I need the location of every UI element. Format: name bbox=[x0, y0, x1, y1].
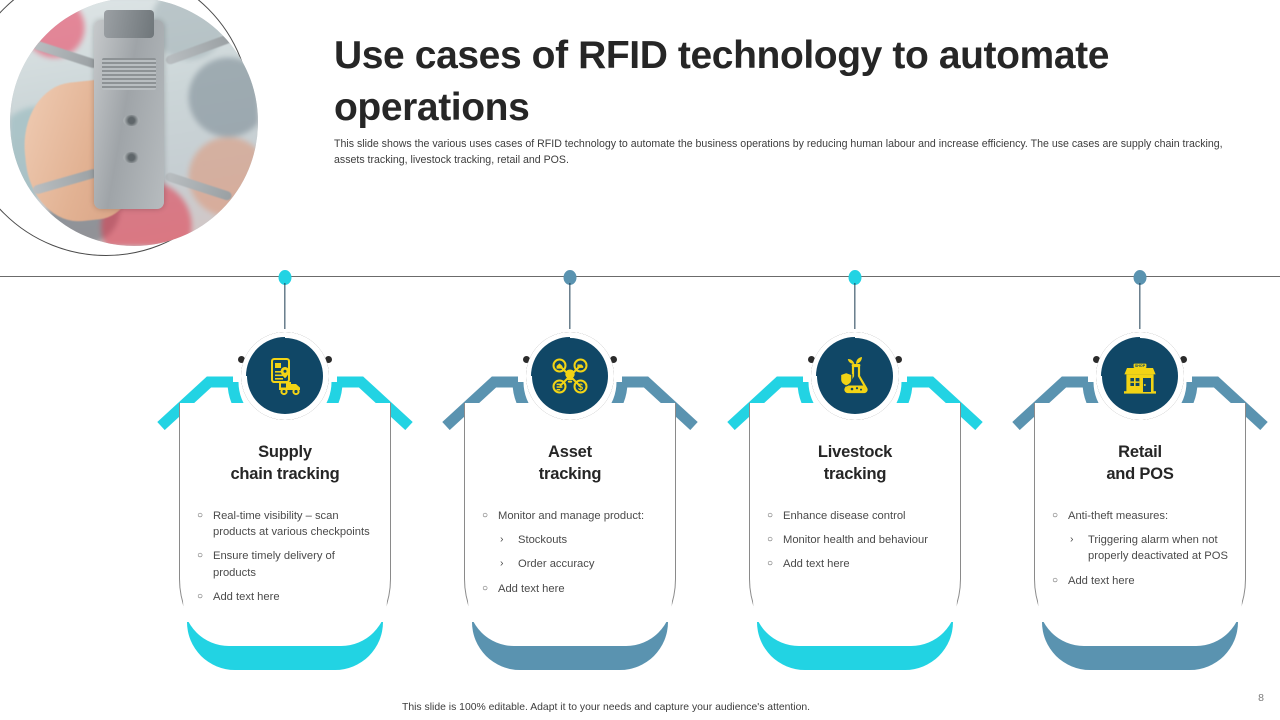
bullet-item: ○ Add text here bbox=[1052, 573, 1234, 589]
timeline-stem-2 bbox=[569, 283, 570, 329]
card-title-line1: Livestock bbox=[818, 443, 892, 461]
page-subtitle: This slide shows the various uses cases … bbox=[334, 136, 1229, 169]
bullet-text: Add text here bbox=[498, 581, 664, 597]
bullet-text: Triggering alarm when not properly deact… bbox=[1088, 532, 1234, 564]
bullet-text: Stockouts bbox=[518, 532, 664, 548]
card-title-line2: tracking bbox=[539, 465, 602, 483]
bullet-text: Add text here bbox=[1068, 573, 1234, 589]
timeline-stem-4 bbox=[1139, 283, 1140, 329]
bullet-text: Add text here bbox=[783, 556, 949, 572]
shop-storefront-icon: SHOP bbox=[1102, 338, 1178, 414]
card-title: Asset tracking bbox=[464, 442, 676, 486]
bullet-item: ○ Add text here bbox=[482, 581, 664, 597]
asset-network-icon: $ bbox=[532, 338, 608, 414]
card-title-line2: chain tracking bbox=[230, 465, 339, 483]
bullet-item: ○ Monitor and manage product: bbox=[482, 508, 664, 524]
hero-photo bbox=[10, 0, 258, 246]
bullet-marker: ○ bbox=[197, 508, 213, 540]
card-bottom-crescent bbox=[757, 622, 953, 670]
bullet-item: ○ Enhance disease control bbox=[767, 508, 949, 524]
timeline-stem-1 bbox=[284, 283, 285, 329]
card-title: Retail and POS bbox=[1034, 442, 1246, 486]
card-bullet-list: ○ Enhance disease control ○ Monitor heal… bbox=[767, 508, 949, 581]
card-badge bbox=[239, 330, 331, 422]
card-badge: $ bbox=[524, 330, 616, 422]
bullet-item: ○ Add text here bbox=[197, 589, 379, 605]
bullet-marker: ○ bbox=[197, 589, 213, 605]
bullet-marker: ○ bbox=[482, 508, 498, 524]
card-title: Supply chain tracking bbox=[179, 442, 391, 486]
bullet-text: Anti-theft measures: bbox=[1068, 508, 1234, 524]
bullet-text: Ensure timely delivery of products bbox=[213, 548, 379, 580]
bullet-marker: ○ bbox=[482, 581, 498, 597]
bullet-text: Enhance disease control bbox=[783, 508, 949, 524]
bullet-marker: › bbox=[500, 556, 518, 572]
bullet-item: ○ Real-time visibility – scan products a… bbox=[197, 508, 379, 540]
card-bottom-crescent bbox=[187, 622, 383, 670]
bullet-item: › Stockouts bbox=[482, 532, 664, 548]
bullet-marker: ○ bbox=[1052, 508, 1068, 524]
card-badge: SHOP bbox=[1094, 330, 1186, 422]
bullet-item: ○ Monitor health and behaviour bbox=[767, 532, 949, 548]
card-title-line1: Asset bbox=[548, 443, 592, 461]
bullet-text: Order accuracy bbox=[518, 556, 664, 572]
bullet-marker: ○ bbox=[767, 532, 783, 548]
bullet-text: Real-time visibility – scan products at … bbox=[213, 508, 379, 540]
bullet-marker: ○ bbox=[767, 508, 783, 524]
timeline-stem-3 bbox=[854, 283, 855, 329]
card-title-line2: and POS bbox=[1106, 465, 1173, 483]
bullet-text: Monitor health and behaviour bbox=[783, 532, 949, 548]
card-badge bbox=[809, 330, 901, 422]
flask-shield-icon bbox=[817, 338, 893, 414]
bullet-item: › Triggering alarm when not properly dea… bbox=[1052, 532, 1234, 564]
bullet-marker: ○ bbox=[197, 548, 213, 580]
bullet-item: ○ Anti-theft measures: bbox=[1052, 508, 1234, 524]
card-bullet-list: ○ Monitor and manage product: › Stockout… bbox=[482, 508, 664, 605]
footer-note: This slide is 100% editable. Adapt it to… bbox=[402, 702, 810, 713]
bullet-item: ○ Ensure timely delivery of products bbox=[197, 548, 379, 580]
card-bullet-list: ○ Real-time visibility – scan products a… bbox=[197, 508, 379, 613]
svg-text:$: $ bbox=[578, 382, 583, 392]
hero-image-block bbox=[0, 0, 310, 292]
card-title-line1: Retail bbox=[1118, 443, 1162, 461]
bullet-text: Monitor and manage product: bbox=[498, 508, 664, 524]
bullet-item: › Order accuracy bbox=[482, 556, 664, 572]
card-bullet-list: ○ Anti-theft measures: › Triggering alar… bbox=[1052, 508, 1234, 597]
bullet-marker: › bbox=[1070, 532, 1088, 564]
card-title-line1: Supply bbox=[258, 443, 312, 461]
card-bottom-crescent bbox=[472, 622, 668, 670]
bullet-marker: ○ bbox=[767, 556, 783, 572]
delivery-truck-tracking-icon bbox=[247, 338, 323, 414]
svg-text:SHOP: SHOP bbox=[1135, 364, 1146, 368]
card-title-line2: tracking bbox=[824, 465, 887, 483]
bullet-marker: › bbox=[500, 532, 518, 548]
bullet-marker: ○ bbox=[1052, 573, 1068, 589]
bullet-text: Add text here bbox=[213, 589, 379, 605]
page-title: Use cases of RFID technology to automate… bbox=[334, 30, 1214, 134]
card-bottom-crescent bbox=[1042, 622, 1238, 670]
bullet-item: ○ Add text here bbox=[767, 556, 949, 572]
card-title: Livestock tracking bbox=[749, 442, 961, 486]
page-number: 8 bbox=[1258, 692, 1264, 704]
timeline-axis bbox=[0, 276, 1280, 277]
